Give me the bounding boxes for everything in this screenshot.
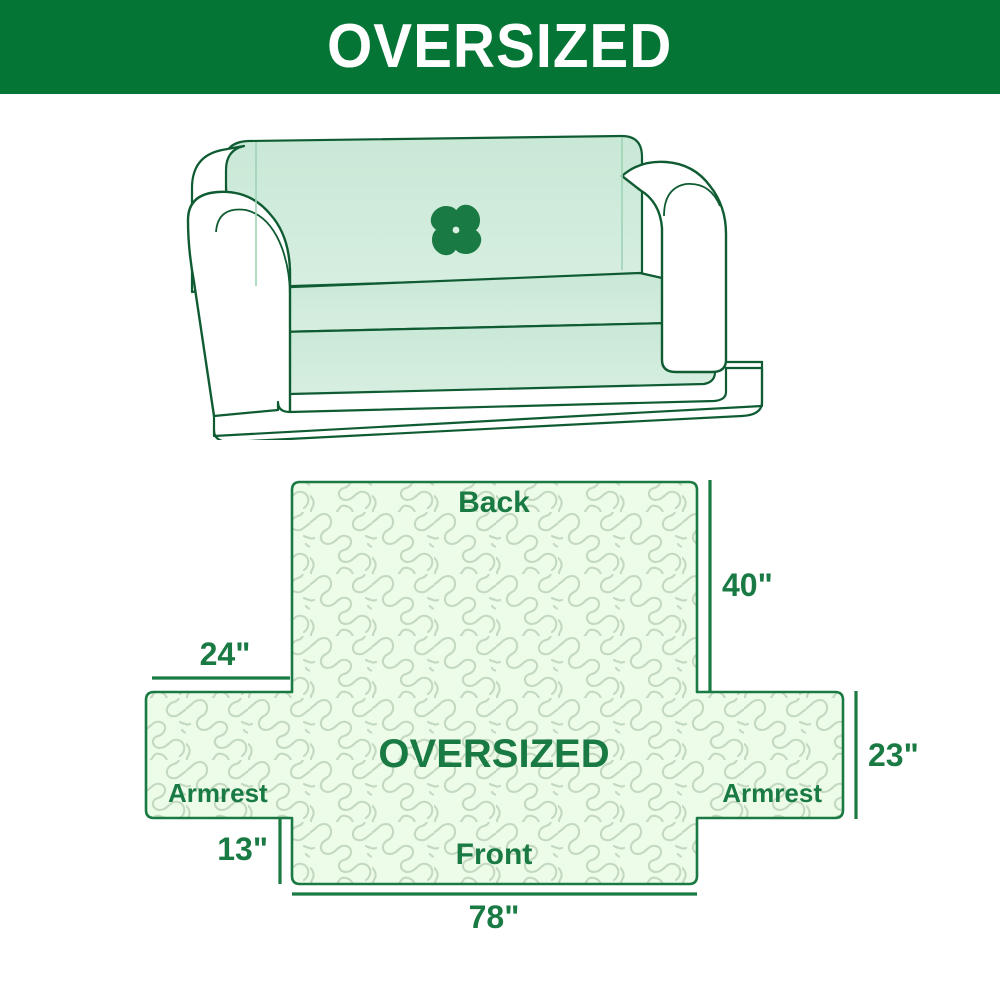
dimension-value-23: 23" xyxy=(868,737,919,773)
dimension-value-78: 78" xyxy=(469,899,520,935)
dimension-back-height: 40" xyxy=(710,480,773,692)
page-title: OVERSIZED xyxy=(327,16,672,78)
diagram-center-label: OVERSIZED xyxy=(378,732,609,776)
dimension-value-13: 13" xyxy=(217,831,268,867)
dimension-armrest-depth: 23" xyxy=(856,691,919,819)
slipcover-outline xyxy=(146,482,843,884)
dimension-armrest-width: 24" xyxy=(152,636,290,678)
dimension-diagram: Back OVERSIZED Armrest Armrest Front 40"… xyxy=(0,450,1000,950)
pinwheel-icon xyxy=(431,205,481,255)
dimension-front-skirt: 13" xyxy=(217,818,280,884)
sofa-illustration xyxy=(170,110,840,440)
dimension-value-40: 40" xyxy=(722,567,773,603)
sofa-left-armrest xyxy=(188,192,290,428)
panel-label-armrest-right: Armrest xyxy=(722,778,822,808)
dimension-total-width: 78" xyxy=(292,894,697,935)
dimension-value-24: 24" xyxy=(200,636,251,672)
panel-label-back: Back xyxy=(458,486,530,519)
sofa-seat-front xyxy=(278,322,715,394)
panel-label-front: Front xyxy=(456,838,533,871)
panel-label-armrest-left: Armrest xyxy=(168,778,268,808)
header-banner: OVERSIZED xyxy=(0,0,1000,94)
